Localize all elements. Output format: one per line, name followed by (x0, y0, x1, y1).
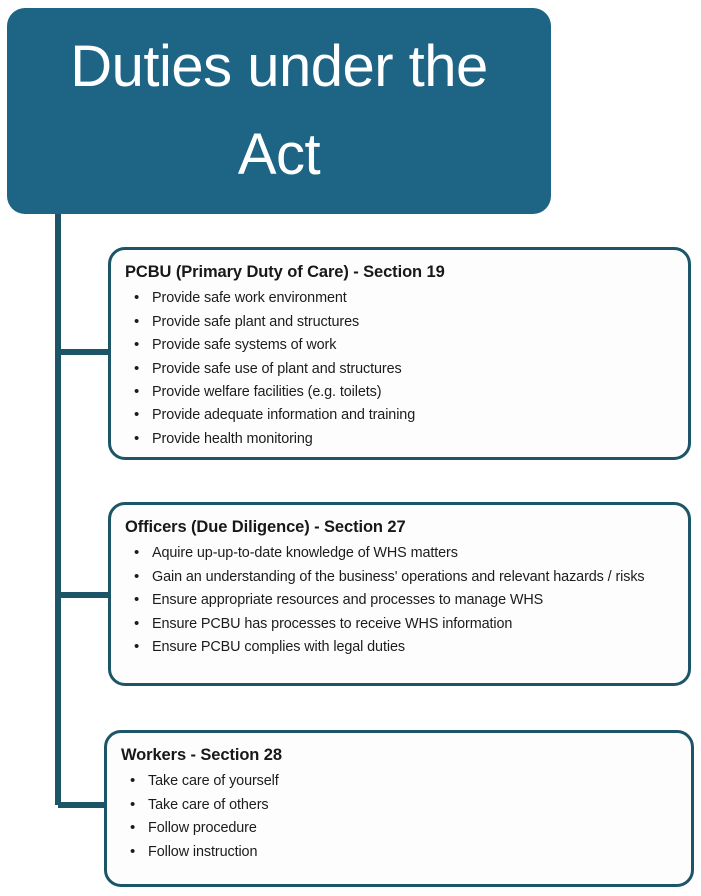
card-workers-title: Workers - Section 28 (121, 745, 677, 766)
list-item: Provide safe use of plant and structures (125, 359, 674, 381)
card-pcbu-title: PCBU (Primary Duty of Care) - Section 19 (125, 262, 674, 283)
list-item: Ensure PCBU complies with legal duties (125, 637, 674, 659)
list-item: Aquire up-up-to-date knowledge of WHS ma… (125, 543, 674, 565)
list-item: Gain an understanding of the business' o… (125, 567, 674, 589)
card-pcbu-bullet-list: Provide safe work environmentProvide saf… (125, 288, 674, 450)
header-banner: Duties under the Act (7, 8, 551, 214)
card-officers-bullet-list: Aquire up-up-to-date knowledge of WHS ma… (125, 543, 674, 658)
list-item: Provide health monitoring (125, 429, 674, 451)
list-item: Follow procedure (121, 818, 677, 840)
list-item: Provide adequate information and trainin… (125, 405, 674, 427)
card-workers-bullet-list: Take care of yourselfTake care of others… (121, 771, 677, 863)
list-item: Provide safe plant and structures (125, 312, 674, 334)
card-officers: Officers (Due Diligence) - Section 27 Aq… (108, 502, 691, 686)
list-item: Provide safe systems of work (125, 335, 674, 357)
list-item: Take care of others (121, 795, 677, 817)
list-item: Ensure PCBU has processes to receive WHS… (125, 614, 674, 636)
page-title: Duties under the Act (7, 23, 551, 199)
card-workers: Workers - Section 28 Take care of yourse… (104, 730, 694, 887)
list-item: Follow instruction (121, 842, 677, 864)
card-pcbu: PCBU (Primary Duty of Care) - Section 19… (108, 247, 691, 460)
list-item: Ensure appropriate resources and process… (125, 590, 674, 612)
list-item: Take care of yourself (121, 771, 677, 793)
list-item: Provide welfare facilities (e.g. toilets… (125, 382, 674, 404)
list-item: Provide safe work environment (125, 288, 674, 310)
card-officers-title: Officers (Due Diligence) - Section 27 (125, 517, 674, 538)
duties-under-the-act-diagram: Duties under the Act PCBU (Primary Duty … (0, 0, 701, 896)
